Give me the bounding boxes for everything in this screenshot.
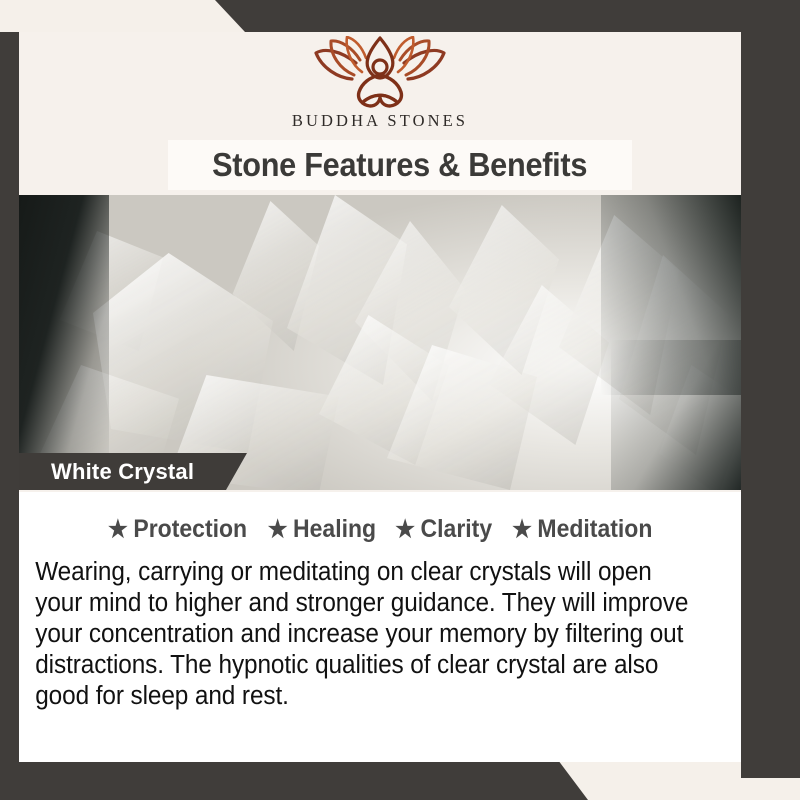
benefit-item-healing: ★ Healing xyxy=(267,515,375,544)
benefit-item-protection: ★ Protection xyxy=(108,515,247,544)
benefit-label: Healing xyxy=(293,515,376,544)
benefit-label: Clarity xyxy=(420,515,492,544)
frame-top-bar xyxy=(0,0,800,32)
star-icon: ★ xyxy=(108,518,128,542)
lotus-meditating-figure-icon xyxy=(300,36,460,110)
brand-name: BUDDHA STONES xyxy=(292,111,468,131)
description-text: Wearing, carrying or meditating on clear… xyxy=(19,544,709,712)
benefit-label: Protection xyxy=(133,515,247,544)
frame-right-bar xyxy=(741,0,800,778)
frame-bottom-bar xyxy=(0,760,800,800)
benefit-label: Meditation xyxy=(537,515,652,544)
page-title: Stone Features & Benefits xyxy=(212,146,587,184)
photo-shadow-left xyxy=(19,195,109,490)
brand-header: BUDDHA STONES xyxy=(19,32,741,140)
benefits-row: ★ Protection ★ Healing ★ Clarity ★ Medit… xyxy=(19,492,741,544)
product-photo-image xyxy=(19,195,741,490)
product-photo: White Crystal xyxy=(19,195,741,490)
star-icon: ★ xyxy=(395,518,415,542)
benefit-item-meditation: ★ Meditation xyxy=(512,515,652,544)
details-panel: ★ Protection ★ Healing ★ Clarity ★ Medit… xyxy=(19,492,741,762)
title-banner: Stone Features & Benefits xyxy=(168,140,632,190)
product-caption-badge: White Crystal xyxy=(19,453,247,490)
product-caption-text: White Crystal xyxy=(19,459,194,485)
star-icon: ★ xyxy=(267,518,287,542)
frame-left-bar xyxy=(0,32,19,778)
content-card: BUDDHA STONES Stone Features & Benefits xyxy=(19,32,741,762)
benefit-item-clarity: ★ Clarity xyxy=(395,515,492,544)
photo-shadow-bottom xyxy=(611,340,741,490)
star-icon: ★ xyxy=(512,518,532,542)
